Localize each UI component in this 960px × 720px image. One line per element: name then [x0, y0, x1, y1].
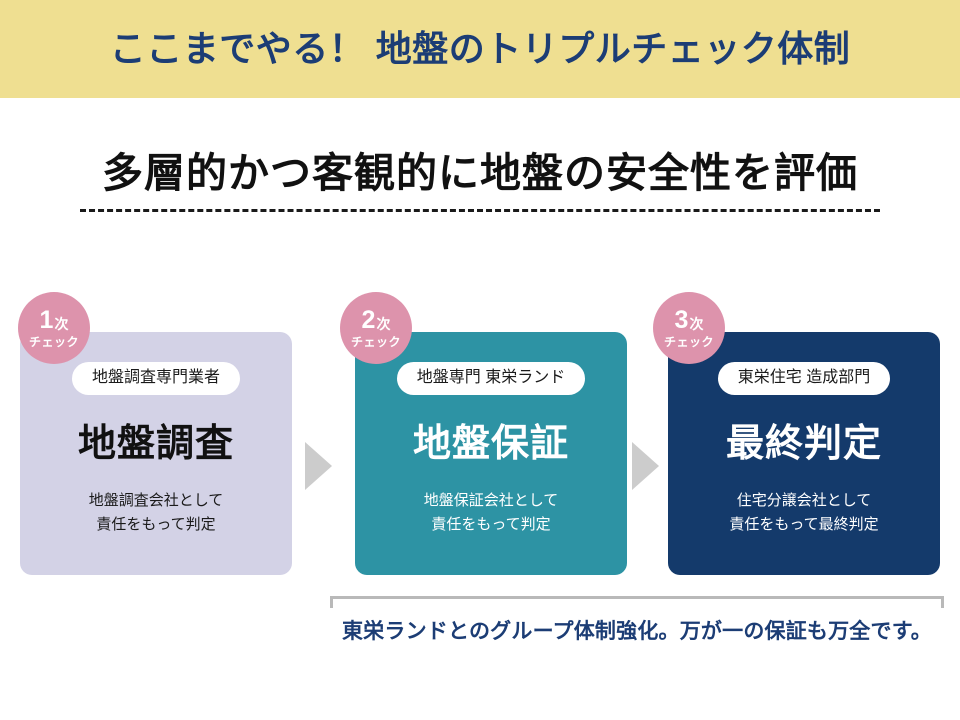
step-1-badge-top: 1 次 [40, 308, 69, 333]
step-3-body-line1: 住宅分譲会社として [729, 489, 878, 514]
step-3-badge-check: チェック [664, 336, 714, 348]
step-1-pill: 地盤調査専門業者 [72, 362, 240, 395]
step-1-badge-ji: 次 [54, 317, 68, 331]
step-2-badge-check: チェック [351, 336, 401, 348]
step-3-badge-top: 3 次 [675, 308, 704, 333]
step-1-badge: 1 次 チェック [18, 292, 90, 364]
step-2-badge-top: 2 次 [362, 308, 391, 333]
step-2-badge: 2 次 チェック [340, 292, 412, 364]
step-2-body-line1: 地盤保証会社として [424, 489, 559, 514]
step-2-badge-ji: 次 [376, 317, 390, 331]
step-3-badge-ji: 次 [689, 317, 703, 331]
step-1-body-line1: 地盤調査会社として [89, 489, 224, 514]
step-1-body: 地盤調査会社として 責任をもって判定 [89, 489, 224, 539]
step-2-title: 地盤保証 [413, 425, 569, 463]
footer-caption: 東栄ランドとのグループ体制強化。万が一の保証も万全です。 [330, 618, 944, 645]
step-2-pill: 地盤専門 東栄ランド [397, 362, 585, 395]
step-3-body-line2: 責任をもって最終判定 [729, 513, 878, 538]
page-title: ここまでやる！ 地盤のトリプルチェック体制 [110, 31, 851, 67]
arrow-right-icon-2 [632, 442, 659, 490]
step-1-title: 地盤調査 [78, 425, 234, 463]
step-2-body: 地盤保証会社として 責任をもって判定 [424, 489, 559, 539]
step-3-badge-number: 3 [675, 308, 689, 333]
step-2-body-line2: 責任をもって判定 [424, 513, 559, 538]
step-3-pill: 東栄住宅 造成部門 [718, 362, 890, 395]
step-3-body: 住宅分譲会社として 責任をもって最終判定 [729, 489, 878, 539]
arrow-right-icon-1 [305, 442, 332, 490]
step-card-1[interactable]: 地盤調査専門業者 地盤調査 地盤調査会社として 責任をもって判定 [20, 332, 292, 575]
header-band: ここまでやる！ 地盤のトリプルチェック体制 [0, 0, 960, 98]
step-2-badge-number: 2 [362, 308, 376, 333]
step-3-badge: 3 次 チェック [653, 292, 725, 364]
step-1-badge-number: 1 [40, 308, 54, 333]
group-bracket [330, 596, 944, 608]
subtitle-text: 多層的かつ客観的に地盤の安全性を評価 [80, 150, 880, 197]
step-card-3[interactable]: 東栄住宅 造成部門 最終判定 住宅分譲会社として 責任をもって最終判定 [668, 332, 940, 575]
step-1-body-line2: 責任をもって判定 [89, 513, 224, 538]
subtitle-section: 多層的かつ客観的に地盤の安全性を評価 [80, 150, 880, 212]
step-3-title: 最終判定 [726, 425, 882, 463]
step-1-badge-check: チェック [29, 336, 79, 348]
step-card-2[interactable]: 地盤専門 東栄ランド 地盤保証 地盤保証会社として 責任をもって判定 [355, 332, 627, 575]
steps-row: 地盤調査専門業者 地盤調査 地盤調査会社として 責任をもって判定 地盤専門 東栄… [0, 332, 960, 580]
dashed-divider [80, 209, 880, 212]
